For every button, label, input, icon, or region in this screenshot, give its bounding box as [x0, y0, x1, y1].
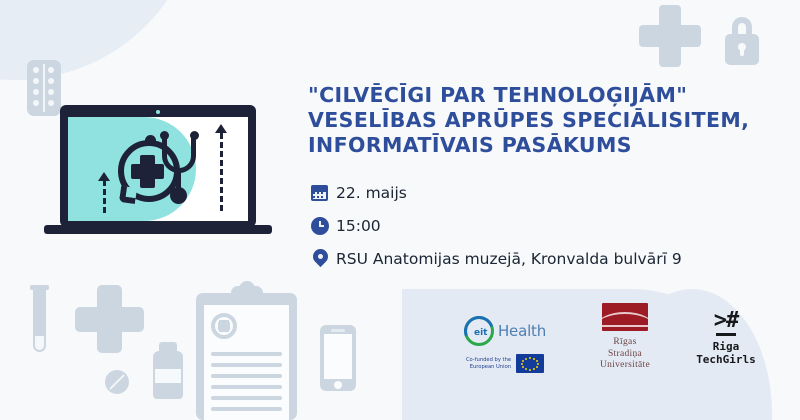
eu-funding-line-1: Co-funded by the [466, 357, 511, 363]
eu-flag-icon [516, 354, 544, 373]
techgirls-underline [716, 333, 736, 336]
techgirls-name-line-1: Riga [678, 340, 774, 353]
eit-logo-mark-text: eit [474, 328, 488, 338]
rsu-crest-icon [602, 303, 648, 331]
techgirls-name-line-2: TechGirls [678, 353, 774, 366]
event-location-value: RSU Anatomijas muzejā, Kronvalda bulvārī… [336, 250, 682, 268]
eit-logo-wordmark: Health [498, 322, 546, 340]
rsu-logo: Rīgas Stradiņa Universitāte [570, 303, 680, 372]
event-time-value: 15:00 [336, 217, 381, 235]
event-poster: "CILVĒCĪGI PAR TEHNOLOĢIJĀM" VESELĪBAS A… [0, 0, 800, 420]
event-location-row: RSU Anatomijas muzejā, Kronvalda bulvārī… [308, 246, 682, 272]
eu-funding-line-2: European Union [470, 364, 511, 370]
event-date-value: 22. maijs [336, 184, 407, 202]
headline-line-2: VESELĪBAS APRŪPES SPECIĀLISITEM, [308, 108, 778, 133]
laptop-screen [68, 117, 248, 221]
headline-line-3: INFORMATĪVAIS PASĀKUMS [308, 133, 778, 158]
tablet-pill-icon [105, 370, 129, 394]
headline-line-1: "CILVĒCĪGI PAR TEHNOLOĢIJĀM" [308, 83, 778, 108]
logo-strip: eit Health Co-funded by the European Uni… [402, 289, 774, 420]
headline-block: "CILVĒCĪGI PAR TEHNOLOĢIJĀM" VESELĪBAS A… [308, 83, 778, 158]
rsu-name-line-3: Universitāte [570, 360, 680, 372]
rsu-name-line-2: Stradiņa [570, 349, 680, 361]
rsu-name-line-1: Rīgas [570, 337, 680, 349]
calendar-icon [308, 182, 336, 204]
event-date-row: 22. maijs [308, 180, 682, 206]
techgirls-symbol: ># [678, 311, 774, 331]
event-details-list: 22. maijs 15:00 RSU Anatomijas muzejā, K… [308, 180, 682, 279]
pill-blister-pack-icon [27, 60, 61, 116]
eit-health-logo: eit Health Co-funded by the European Uni… [440, 315, 570, 373]
page-title: "CILVĒCĪGI PAR TEHNOLOĢIJĀM" VESELĪBAS A… [308, 83, 778, 158]
riga-techgirls-logo: ># Riga TechGirls [678, 311, 774, 366]
event-time-row: 15:00 [308, 213, 682, 239]
clock-icon [308, 215, 336, 237]
location-pin-icon [308, 248, 336, 270]
